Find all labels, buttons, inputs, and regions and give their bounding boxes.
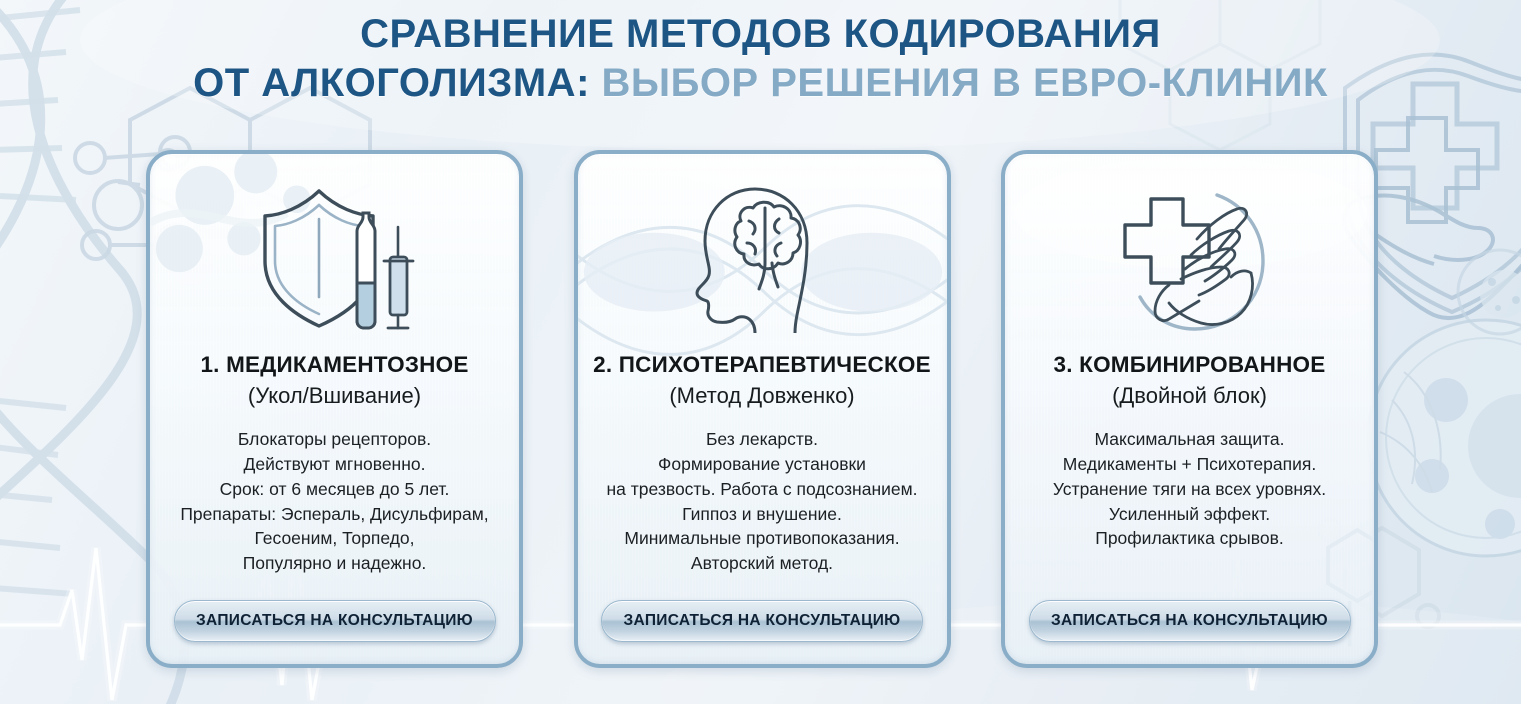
page-header: СРАВНЕНИЕ МЕТОДОВ КОДИРОВАНИЯ ОТ АЛКОГОЛ… [0, 14, 1521, 104]
card-description: Без лекарств. Формирование установки на … [596, 427, 927, 576]
card-description: Блокаторы рецепторов. Действуют мгновенн… [170, 427, 498, 576]
card-line: Устранение тяги на всех уровнях. [1053, 477, 1326, 502]
page-title-line-2: ОТ АЛКОГОЛИЗМА: ВЫБОР РЕШЕНИЯ В ЕВРО-КЛИ… [0, 63, 1521, 104]
card-line: Действуют мгновенно. [180, 452, 488, 477]
book-consultation-button-label: ЗАПИСАТЬСЯ НА КОНСУЛЬТАЦИЮ [196, 612, 473, 630]
card-line: Препараты: Эспераль, Дисульфирам, [180, 502, 488, 527]
cross-helping-hands-icon [1105, 183, 1275, 333]
card-line: Гесоеним, Торпедо, [180, 526, 488, 551]
card-icon-wrap [687, 178, 837, 338]
card-line: Гиппоз и внушение. [606, 502, 917, 527]
card-line: на трезвость. Работа с подсознанием. [606, 477, 917, 502]
card-subtitle: (Метод Довженко) [669, 383, 854, 409]
card-line: Срок: от 6 месяцев до 5 лет. [180, 477, 488, 502]
card-line: Минимальные противопоказания. [606, 526, 917, 551]
card-line: Максимальная защита. [1053, 427, 1326, 452]
book-consultation-button-label: ЗАПИСАТЬСЯ НА КОНСУЛЬТАЦИЮ [624, 612, 901, 630]
card-line: Авторский метод. [606, 551, 917, 576]
card-subtitle: (Укол/Вшивание) [248, 383, 421, 409]
card-line: Без лекарств. [606, 427, 917, 452]
card-line: Популярно и надежно. [180, 551, 488, 576]
book-consultation-button[interactable]: ЗАПИСАТЬСЯ НА КОНСУЛЬТАЦИЮ [1029, 600, 1351, 642]
page-title-line-2-light: ВЫБОР РЕШЕНИЯ В ЕВРО-КЛИНИК [602, 61, 1328, 105]
card-subtitle: (Двойной блок) [1112, 383, 1267, 409]
card-icon-wrap [1105, 178, 1275, 338]
card-description: Максимальная защита. Медикаменты + Психо… [1043, 427, 1336, 551]
method-cards-row: 1. МЕДИКАМЕНТОЗНОЕ (Укол/Вшивание) Блока… [146, 150, 1378, 668]
card-line: Блокаторы рецепторов. [180, 427, 488, 452]
page-title-line-1: СРАВНЕНИЕ МЕТОДОВ КОДИРОВАНИЯ [0, 14, 1521, 55]
shield-ampoule-syringe-icon [251, 183, 419, 333]
card-title: 2. ПСИХОТЕРАПЕВТИЧЕСКОЕ [593, 352, 931, 378]
card-title: 1. МЕДИКАМЕНТОЗНОЕ [200, 352, 468, 378]
card-line: Усиленный эффект. [1053, 502, 1326, 527]
book-consultation-button-label: ЗАПИСАТЬСЯ НА КОНСУЛЬТАЦИЮ [1051, 612, 1328, 630]
cell-sphere-icon [1368, 320, 1521, 556]
method-card-psychotherapy[interactable]: 2. ПСИХОТЕРАПЕВТИЧЕСКОЕ (Метод Довженко)… [574, 150, 951, 668]
method-card-medication[interactable]: 1. МЕДИКАМЕНТОЗНОЕ (Укол/Вшивание) Блока… [146, 150, 523, 668]
card-line: Медикаменты + Психотерапия. [1053, 452, 1326, 477]
card-line: Профилактика срывов. [1053, 526, 1326, 551]
card-line: Формирование установки [606, 452, 917, 477]
card-title: 3. КОМБИНИРОВАННОЕ [1054, 352, 1326, 378]
book-consultation-button[interactable]: ЗАПИСАТЬСЯ НА КОНСУЛЬТАЦИЮ [174, 600, 496, 642]
method-card-combined[interactable]: 3. КОМБИНИРОВАННОЕ (Двойной блок) Максим… [1001, 150, 1378, 668]
card-icon-wrap [251, 178, 419, 338]
page-title-line-2-dark: ОТ АЛКОГОЛИЗМА: [193, 61, 590, 105]
head-brain-icon [687, 183, 837, 333]
book-consultation-button[interactable]: ЗАПИСАТЬСЯ НА КОНСУЛЬТАЦИЮ [601, 600, 923, 642]
